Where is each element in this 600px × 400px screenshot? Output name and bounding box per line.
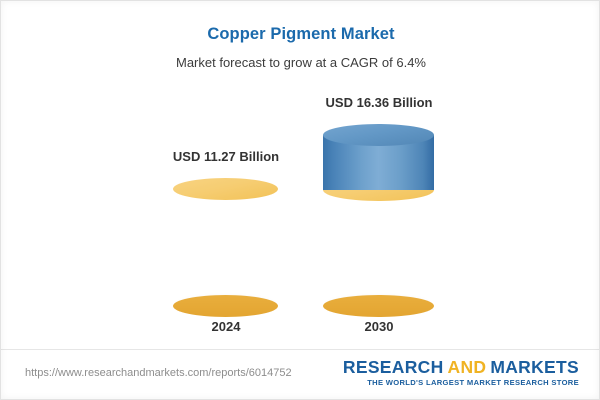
cylinder-2024 bbox=[173, 178, 278, 306]
cylinder-body-yellow bbox=[173, 189, 278, 306]
cylinder-2030 bbox=[323, 124, 434, 306]
category-label-2030: 2030 bbox=[269, 319, 489, 334]
research-and-markets-logo[interactable]: RESEARCHANDMARKETS THE WORLD'S LARGEST M… bbox=[343, 358, 579, 388]
logo-tagline: THE WORLD'S LARGEST MARKET RESEARCH STOR… bbox=[343, 378, 579, 388]
cylinder-body-yellow bbox=[323, 190, 434, 306]
logo-wordmark: RESEARCHANDMARKETS bbox=[343, 358, 579, 377]
logo-word-research: RESEARCH bbox=[343, 357, 444, 377]
plot-area: USD 11.27 Billion 2024 USD 16.36 Billion bbox=[1, 1, 600, 349]
cylinder-cap-yellow bbox=[173, 178, 278, 200]
bar-group-2030[interactable]: USD 16.36 Billion 2030 bbox=[269, 1, 489, 349]
logo-word-markets: MARKETS bbox=[490, 357, 579, 377]
value-label-2030: USD 16.36 Billion bbox=[269, 95, 489, 110]
cylinder-cap-blue bbox=[323, 124, 434, 146]
logo-word-and: AND bbox=[448, 357, 487, 377]
chart-card: Copper Pigment Market Market forecast to… bbox=[0, 0, 600, 400]
report-url[interactable]: https://www.researchandmarkets.com/repor… bbox=[25, 367, 292, 379]
footer: https://www.researchandmarkets.com/repor… bbox=[1, 350, 600, 400]
